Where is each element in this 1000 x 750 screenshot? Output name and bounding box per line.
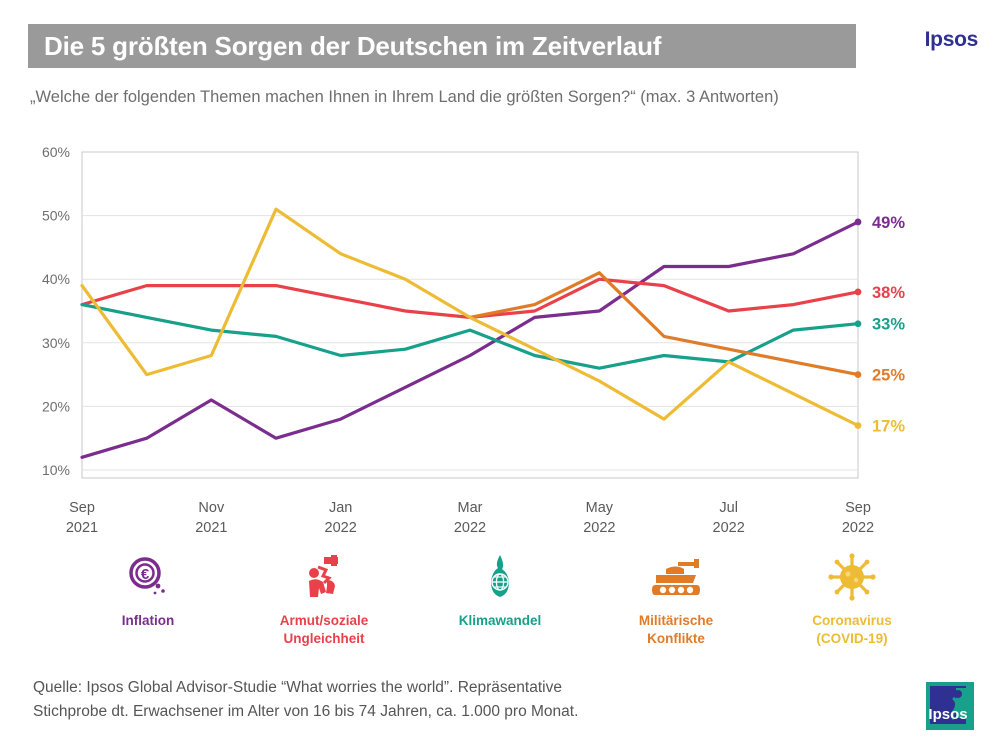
series-end-marker	[855, 219, 862, 226]
series-end-label: 38%	[872, 284, 905, 302]
y-axis-tick-label: 10%	[42, 462, 70, 478]
legend-item-label: Klimawandel	[459, 612, 542, 630]
euro-coin-icon: €	[124, 548, 172, 606]
legend-item-label-line2: Konflikte	[639, 630, 713, 648]
legend-item-label: Inflation	[122, 612, 175, 630]
x-axis-tick-label: Jan	[329, 500, 352, 516]
legend-item-tank[interactable]: MilitärischeKonflikte	[596, 548, 756, 648]
legend-item-virus[interactable]: Coronavirus(COVID-19)	[772, 548, 932, 648]
legend-item-label-line2: (COVID-19)	[812, 630, 892, 648]
title-bar: Die 5 größten Sorgen der Deutschen im Ze…	[28, 24, 856, 68]
x-axis-tick-label: 2022	[713, 520, 745, 536]
y-axis-tick-label: 60%	[42, 144, 70, 160]
x-axis-tick-label: 2022	[325, 520, 357, 536]
chart-svg: 10%20%30%40%50%60%Sep2021Nov2021Jan2022M…	[0, 130, 1000, 540]
legend-item-label: Armut/sozialeUngleichheit	[280, 612, 369, 648]
x-axis-tick-label: 2022	[454, 520, 486, 536]
series-line	[470, 273, 858, 375]
svg-text:€: €	[141, 566, 150, 583]
source-note-line2: Stichprobe dt. Erwachsener im Alter von …	[33, 700, 833, 724]
x-axis-tick-label: Sep	[845, 500, 871, 516]
series-end-marker	[855, 422, 862, 429]
x-axis-tick-label: Nov	[198, 500, 225, 516]
series-end-marker	[855, 289, 862, 296]
x-axis-tick-label: 2021	[195, 520, 227, 536]
series-end-label: 49%	[872, 214, 905, 232]
x-axis-tick-label: Mar	[458, 500, 483, 516]
series-end-marker	[855, 320, 862, 327]
broken-person-icon	[300, 548, 348, 606]
virus-icon	[828, 548, 876, 606]
x-axis-tick-label: May	[586, 500, 614, 516]
x-axis-tick-label: 2021	[66, 520, 98, 536]
ipsos-brand-logo-text: Ipsos	[925, 28, 978, 52]
y-axis-tick-label: 30%	[42, 335, 70, 351]
legend-item-label-line2: Ungleichheit	[280, 630, 369, 648]
svg-text:Ipsos: Ipsos	[928, 706, 967, 723]
source-note-line1: Quelle: Ipsos Global Advisor-Studie “Wha…	[33, 676, 833, 700]
legend-item-broken-person[interactable]: Armut/sozialeUngleichheit	[244, 548, 404, 648]
series-line	[82, 209, 858, 425]
chart-legend: € Inflation Armut/sozialeUngleichheit Kl…	[60, 548, 940, 658]
series-line	[82, 279, 858, 317]
y-axis-tick-label: 40%	[42, 271, 70, 287]
x-axis-tick-label: Sep	[69, 500, 95, 516]
y-axis-tick-label: 50%	[42, 208, 70, 224]
line-chart: 10%20%30%40%50%60%Sep2021Nov2021Jan2022M…	[0, 130, 1000, 540]
series-end-label: 17%	[872, 417, 905, 435]
legend-item-label: Coronavirus(COVID-19)	[812, 612, 892, 648]
series-end-label: 33%	[872, 316, 905, 334]
legend-item-euro-coin[interactable]: € Inflation	[68, 548, 228, 630]
x-axis-tick-label: Jul	[719, 500, 738, 516]
burning-globe-icon	[476, 548, 524, 606]
tank-icon	[650, 548, 702, 606]
x-axis-tick-label: 2022	[583, 520, 615, 536]
source-note: Quelle: Ipsos Global Advisor-Studie “Wha…	[33, 676, 833, 724]
ipsos-logo-icon: Ipsos	[922, 678, 978, 734]
series-end-label: 25%	[872, 367, 905, 385]
legend-item-label: MilitärischeKonflikte	[639, 612, 713, 648]
page-title: Die 5 größten Sorgen der Deutschen im Ze…	[28, 31, 661, 62]
plot-border	[82, 152, 858, 478]
x-axis-tick-label: 2022	[842, 520, 874, 536]
y-axis-tick-label: 20%	[42, 398, 70, 414]
chart-subtitle: „Welche der folgenden Themen machen Ihne…	[30, 88, 980, 107]
legend-item-burning-globe[interactable]: Klimawandel	[420, 548, 580, 630]
series-end-marker	[855, 371, 862, 378]
series-line	[82, 222, 858, 457]
